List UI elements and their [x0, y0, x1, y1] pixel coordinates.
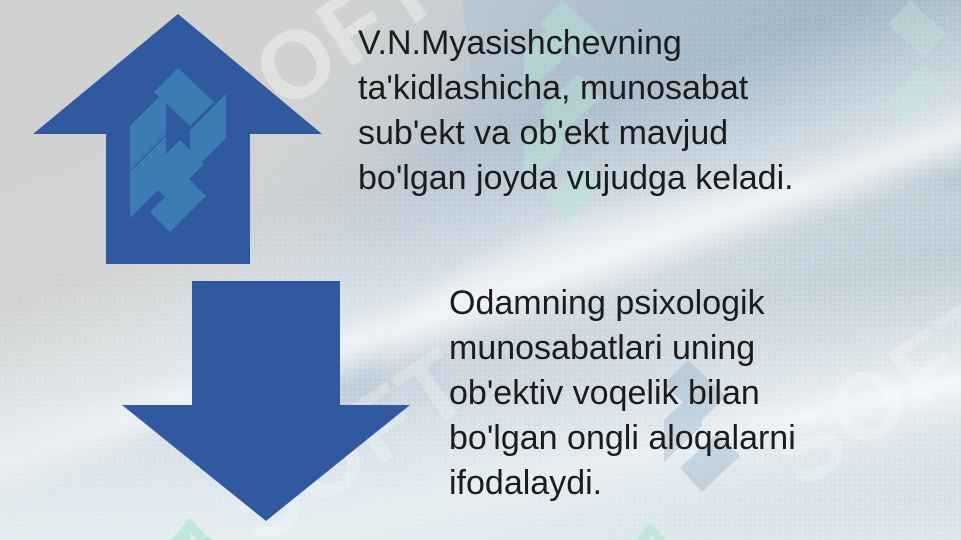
down-arrow: [122, 281, 410, 521]
slide-canvas: SOFT SOFT SOFT: [0, 0, 961, 540]
text-block-secondary: Odamning psixologik munosabatlari uning …: [449, 281, 849, 506]
up-arrow: [33, 14, 322, 264]
text-block-primary: V.N.Myasishchevning ta'kidlashicha, muno…: [358, 21, 810, 201]
